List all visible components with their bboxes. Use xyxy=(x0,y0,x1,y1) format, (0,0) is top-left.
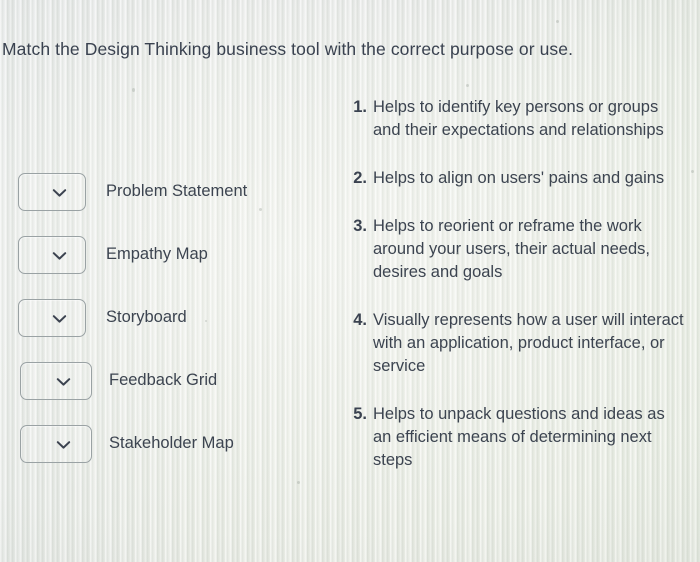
match-item-label: Storyboard xyxy=(106,307,187,327)
purpose-item: 2. Helps to align on users' pains and ga… xyxy=(345,167,685,190)
match-row: Empathy Map xyxy=(0,231,330,294)
match-item-label: Empathy Map xyxy=(106,244,208,264)
purpose-text: Helps to identify key persons or groups … xyxy=(373,96,685,142)
purposes-column: 1. Helps to identify key persons or grou… xyxy=(345,96,685,497)
chevron-down-icon xyxy=(19,311,85,325)
match-item-label: Feedback Grid xyxy=(109,370,217,390)
match-row: Feedback Grid xyxy=(0,357,330,420)
purpose-number: 4. xyxy=(345,309,367,332)
chevron-down-icon xyxy=(21,374,91,388)
match-item-label: Stakeholder Map xyxy=(109,433,234,453)
purpose-item: 1. Helps to identify key persons or grou… xyxy=(345,96,685,142)
purpose-number: 2. xyxy=(345,167,367,190)
purpose-item: 5. Helps to unpack questions and ideas a… xyxy=(345,403,685,472)
answer-select-empathy-map[interactable] xyxy=(18,236,86,274)
photographed-screen: Match the Design Thinking business tool … xyxy=(0,0,700,562)
answer-select-stakeholder-map[interactable] xyxy=(20,425,92,463)
match-row: Stakeholder Map xyxy=(0,420,330,483)
purpose-text: Helps to reorient or reframe the work ar… xyxy=(373,215,685,284)
purpose-item: 4. Visually represents how a user will i… xyxy=(345,309,685,378)
page-title: Match the Design Thinking business tool … xyxy=(2,38,662,60)
purpose-number: 3. xyxy=(345,215,367,238)
purpose-number: 1. xyxy=(345,96,367,119)
purpose-text: Helps to unpack questions and ideas as a… xyxy=(373,403,685,472)
purpose-text: Helps to align on users' pains and gains xyxy=(373,167,685,190)
answer-select-storyboard[interactable] xyxy=(18,299,86,337)
purpose-number: 5. xyxy=(345,403,367,426)
match-row: Problem Statement xyxy=(0,168,330,231)
answer-select-problem-statement[interactable] xyxy=(18,173,86,211)
purpose-text: Visually represents how a user will inte… xyxy=(373,309,685,378)
match-row: Storyboard xyxy=(0,294,330,357)
answer-select-feedback-grid[interactable] xyxy=(20,362,92,400)
chevron-down-icon xyxy=(21,437,91,451)
match-item-label: Problem Statement xyxy=(106,181,247,201)
chevron-down-icon xyxy=(19,185,85,199)
match-items-column: Problem Statement Empathy Map xyxy=(0,168,330,483)
chevron-down-icon xyxy=(19,248,85,262)
purpose-item: 3. Helps to reorient or reframe the work… xyxy=(345,215,685,284)
